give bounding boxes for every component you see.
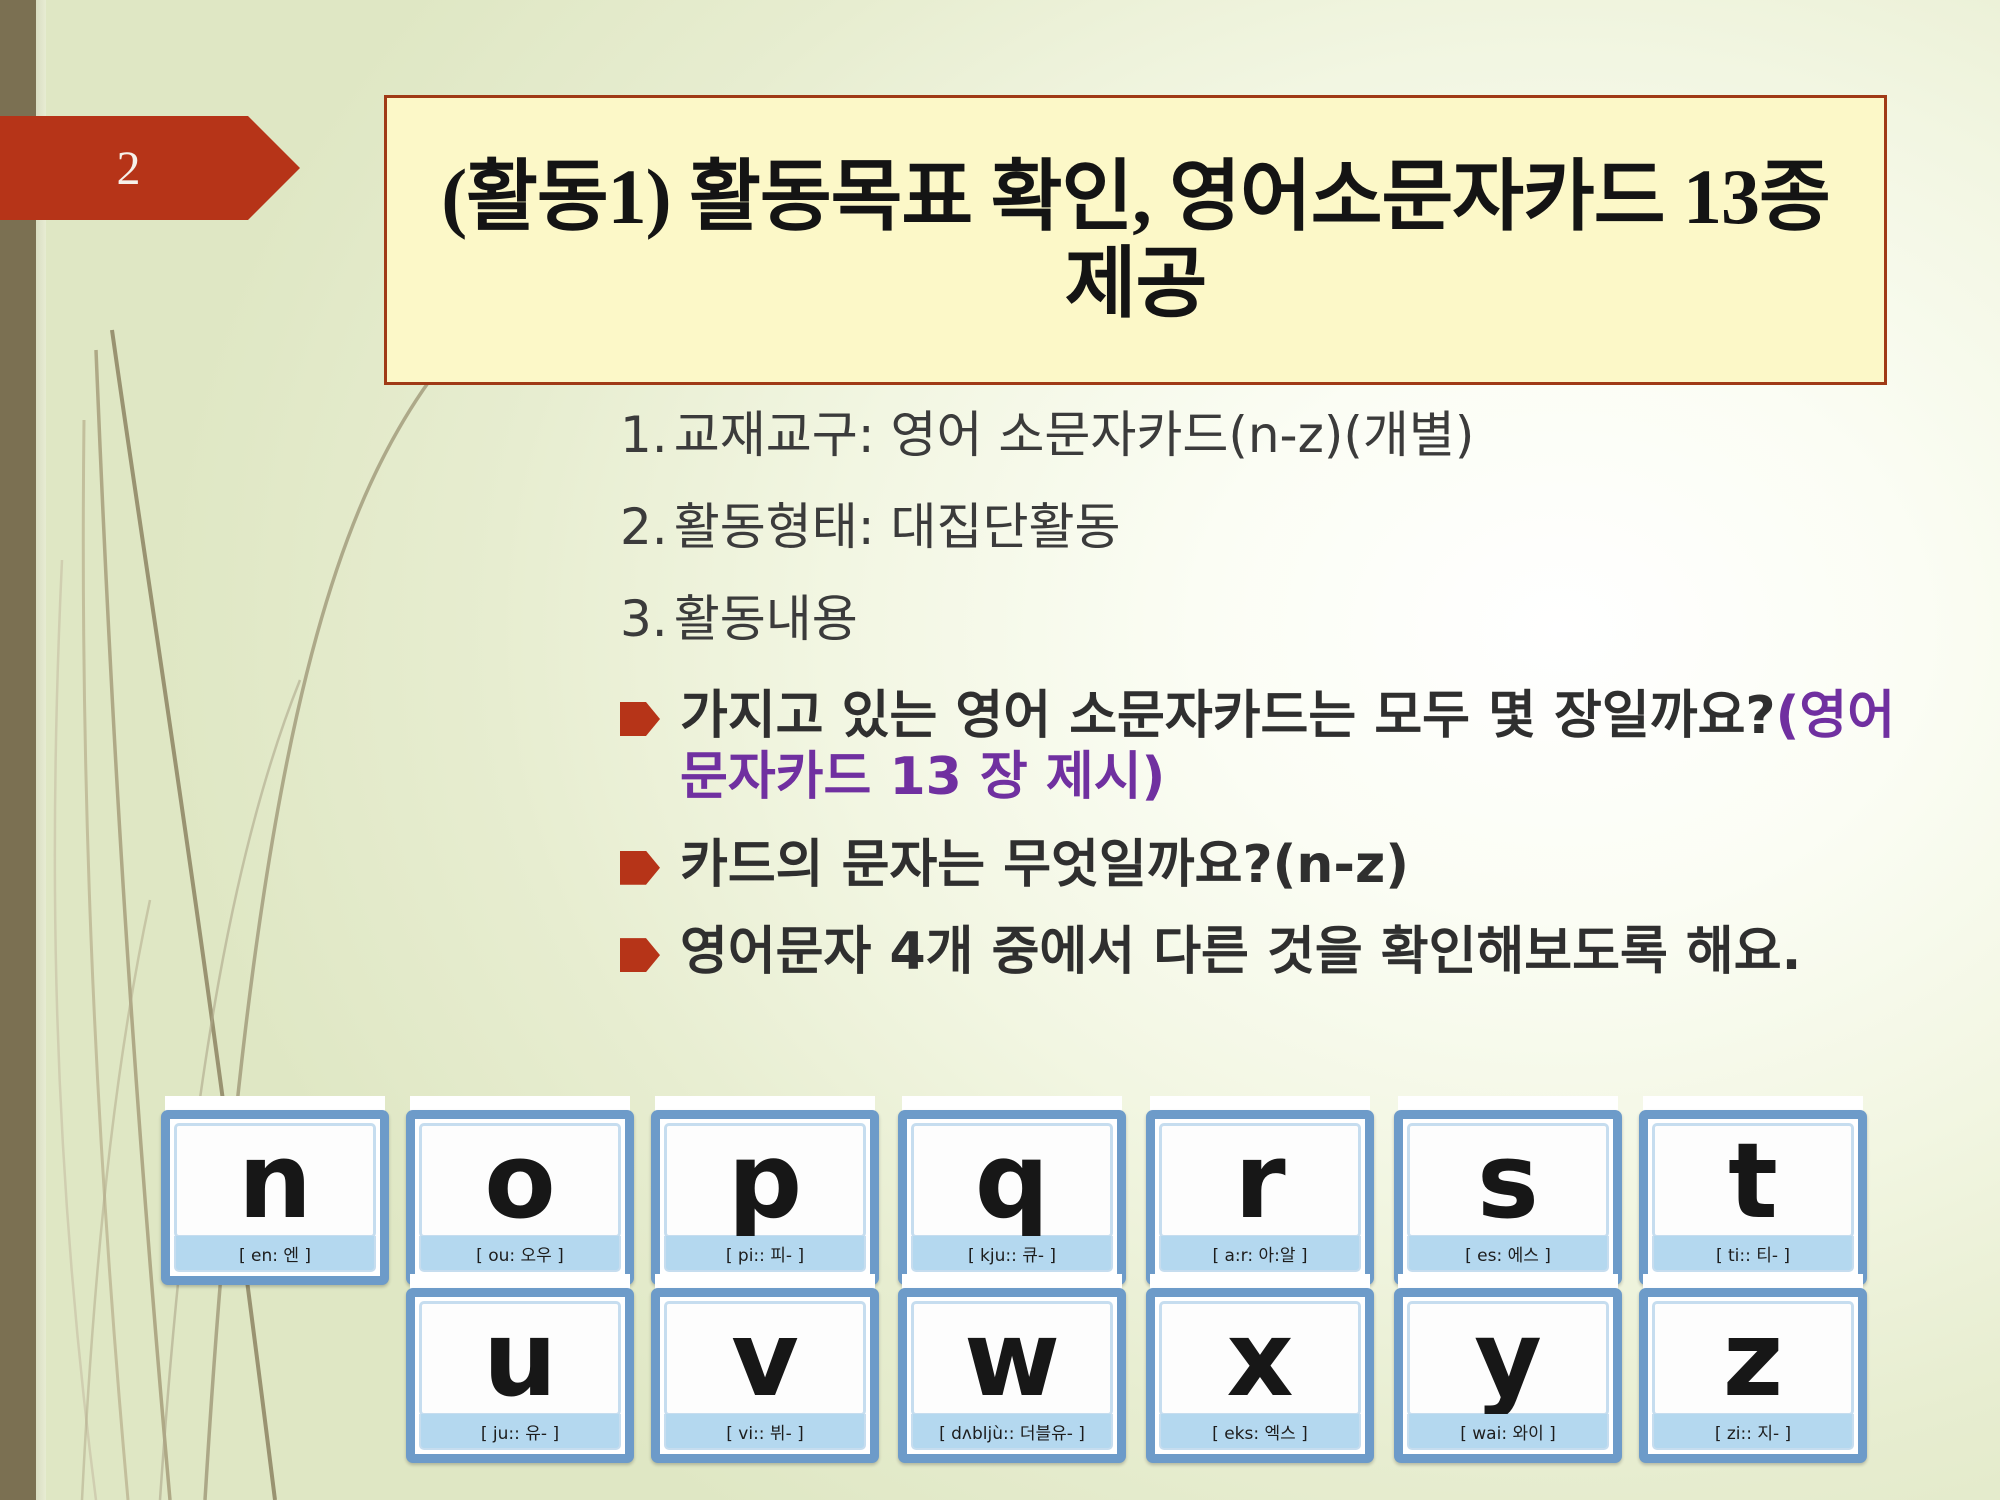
numbered-item-2-index: 2. [620, 498, 668, 556]
letter-card-glyph-r: r [1234, 1129, 1285, 1233]
bullet-item-1-plain: 가지고 있는 영어 소문자카드는 모두 몇 장일까요? [680, 686, 1776, 746]
letter-card-body-t[interactable]: t[ ti:: 티- ] [1639, 1110, 1867, 1285]
letter-card-glyph-y: y [1474, 1307, 1542, 1411]
letter-card-glyph-t: t [1728, 1129, 1778, 1233]
numbered-item-3-text: 활동내용 [674, 590, 858, 648]
letter-card-glyph-n: n [238, 1129, 312, 1233]
letter-card-n[interactable]: n[ en: 엔 ] [161, 1096, 389, 1285]
numbered-item-1: 1.교재교구: 영어 소문자카드(n-z)(개별) [620, 410, 1940, 460]
letter-card-glyph-o: o [484, 1129, 555, 1233]
letter-card-u[interactable]: u[ ju:: 유- ] [406, 1274, 634, 1463]
letter-card-glyph-area-r: r [1159, 1123, 1361, 1238]
letter-card-glyph-q: q [975, 1129, 1049, 1233]
numbered-item-2-text: 활동형태: 대집단활동 [674, 498, 1121, 556]
slide-number-label: 2 [0, 116, 258, 220]
letter-card-glyph-z: z [1723, 1307, 1784, 1411]
bullet-item-1: 가지고 있는 영어 소문자카드는 모두 몇 장일까요?(영어문자카드 13 장 … [620, 686, 1940, 809]
letter-card-o[interactable]: o[ ou: 오우 ] [406, 1096, 634, 1285]
letter-card-pronunciation-q: [ kju:: 큐- ] [911, 1236, 1113, 1272]
letter-card-q[interactable]: q[ kju:: 큐- ] [898, 1096, 1126, 1285]
bullet-item-2: 카드의 문자는 무엇일까요?(n-z) [620, 835, 1940, 896]
letter-card-body-x[interactable]: x[ eks: 엑스 ] [1146, 1288, 1374, 1463]
letter-card-body-u[interactable]: u[ ju:: 유- ] [406, 1288, 634, 1463]
numbered-item-3-index: 3. [620, 590, 668, 648]
letter-card-x[interactable]: x[ eks: 엑스 ] [1146, 1274, 1374, 1463]
letter-card-s[interactable]: s[ es: 에스 ] [1394, 1096, 1622, 1285]
letter-card-glyph-area-n: n [174, 1123, 376, 1238]
numbered-item-1-text: 교재교구: 영어 소문자카드(n-z)(개별) [674, 406, 1475, 464]
title-box: (활동1) 활동목표 확인, 영어소문자카드 13종 제공 [384, 95, 1887, 385]
letter-card-glyph-area-y: y [1407, 1301, 1609, 1416]
letter-card-glyph-v: v [731, 1307, 799, 1411]
letter-card-p[interactable]: p[ pi:: 피- ] [651, 1096, 879, 1285]
bullet-item-1-text: 가지고 있는 영어 소문자카드는 모두 몇 장일까요?(영어문자카드 13 장 … [680, 686, 1940, 809]
letter-card-pronunciation-p: [ pi:: 피- ] [664, 1236, 866, 1272]
letter-card-body-z[interactable]: z[ zi:: 지- ] [1639, 1288, 1867, 1463]
slide-number-badge: 2 [0, 116, 300, 220]
letter-card-body-r[interactable]: r[ a:r: 아:알 ] [1146, 1110, 1374, 1285]
letter-card-w[interactable]: w[ dʌbljù:: 더블유- ] [898, 1274, 1126, 1463]
letter-card-pronunciation-t: [ ti:: 티- ] [1652, 1236, 1854, 1272]
letter-card-glyph-area-p: p [664, 1123, 866, 1238]
letter-card-glyph-area-x: x [1159, 1301, 1361, 1416]
letter-card-pronunciation-u: [ ju:: 유- ] [419, 1414, 621, 1450]
letter-card-z[interactable]: z[ zi:: 지- ] [1639, 1274, 1867, 1463]
letter-card-glyph-s: s [1477, 1129, 1539, 1233]
letter-card-r[interactable]: r[ a:r: 아:알 ] [1146, 1096, 1374, 1285]
letter-card-glyph-area-q: q [911, 1123, 1113, 1238]
letter-card-body-o[interactable]: o[ ou: 오우 ] [406, 1110, 634, 1285]
letter-card-glyph-area-v: v [664, 1301, 866, 1416]
letter-card-v[interactable]: v[ vi:: 뷔- ] [651, 1274, 879, 1463]
letter-card-pronunciation-n: [ en: 엔 ] [174, 1236, 376, 1272]
letter-card-pronunciation-x: [ eks: 엑스 ] [1159, 1414, 1361, 1450]
letter-card-pronunciation-w: [ dʌbljù:: 더블유- ] [911, 1414, 1113, 1450]
letter-card-pronunciation-o: [ ou: 오우 ] [419, 1236, 621, 1272]
letter-card-glyph-area-u: u [419, 1301, 621, 1416]
letter-card-glyph-u: u [483, 1307, 557, 1411]
letter-card-body-v[interactable]: v[ vi:: 뷔- ] [651, 1288, 879, 1463]
left-accent-strip-inner [36, 0, 46, 1500]
bullet-arrow-icon [620, 938, 660, 972]
numbered-item-1-index: 1. [620, 406, 668, 464]
letter-card-body-n[interactable]: n[ en: 엔 ] [161, 1110, 389, 1285]
letter-card-glyph-area-z: z [1652, 1301, 1854, 1416]
letter-card-body-y[interactable]: y[ wai: 와이 ] [1394, 1288, 1622, 1463]
letter-card-pronunciation-z: [ zi:: 지- ] [1652, 1414, 1854, 1450]
bullet-arrow-icon [620, 702, 660, 736]
bullet-item-2-text: 카드의 문자는 무엇일까요?(n-z) [680, 835, 1940, 896]
letter-card-glyph-area-s: s [1407, 1123, 1609, 1238]
left-accent-strip [0, 0, 36, 1500]
numbered-item-2: 2.활동형태: 대집단활동 [620, 502, 1940, 552]
letter-card-glyph-area-t: t [1652, 1123, 1854, 1238]
letter-card-body-w[interactable]: w[ dʌbljù:: 더블유- ] [898, 1288, 1126, 1463]
letter-card-glyph-w: w [964, 1307, 1060, 1411]
bullet-arrow-icon [620, 851, 660, 885]
bullet-item-3-text: 영어문자 4개 중에서 다른 것을 확인해보도록 해요. [680, 922, 1940, 983]
letter-card-pronunciation-v: [ vi:: 뷔- ] [664, 1414, 866, 1450]
letter-card-pronunciation-r: [ a:r: 아:알 ] [1159, 1236, 1361, 1272]
letter-card-glyph-x: x [1226, 1307, 1293, 1411]
letter-card-glyph-area-o: o [419, 1123, 621, 1238]
letter-card-glyph-p: p [728, 1129, 802, 1233]
body-content: 1.교재교구: 영어 소문자카드(n-z)(개별) 2.활동형태: 대집단활동 … [620, 410, 1940, 1009]
page-title: (활동1) 활동목표 확인, 영어소문자카드 13종 제공 [387, 153, 1884, 328]
numbered-item-3: 3.활동내용 [620, 594, 1940, 644]
letter-card-body-q[interactable]: q[ kju:: 큐- ] [898, 1110, 1126, 1285]
letter-card-t[interactable]: t[ ti:: 티- ] [1639, 1096, 1867, 1285]
letter-card-y[interactable]: y[ wai: 와이 ] [1394, 1274, 1622, 1463]
letter-card-pronunciation-s: [ es: 에스 ] [1407, 1236, 1609, 1272]
letter-card-body-p[interactable]: p[ pi:: 피- ] [651, 1110, 879, 1285]
letter-card-glyph-area-w: w [911, 1301, 1113, 1416]
bullet-item-3: 영어문자 4개 중에서 다른 것을 확인해보도록 해요. [620, 922, 1940, 983]
slide-canvas: 2 (활동1) 활동목표 확인, 영어소문자카드 13종 제공 1.교재교구: … [0, 0, 2000, 1500]
letter-card-body-s[interactable]: s[ es: 에스 ] [1394, 1110, 1622, 1285]
letter-card-pronunciation-y: [ wai: 와이 ] [1407, 1414, 1609, 1450]
